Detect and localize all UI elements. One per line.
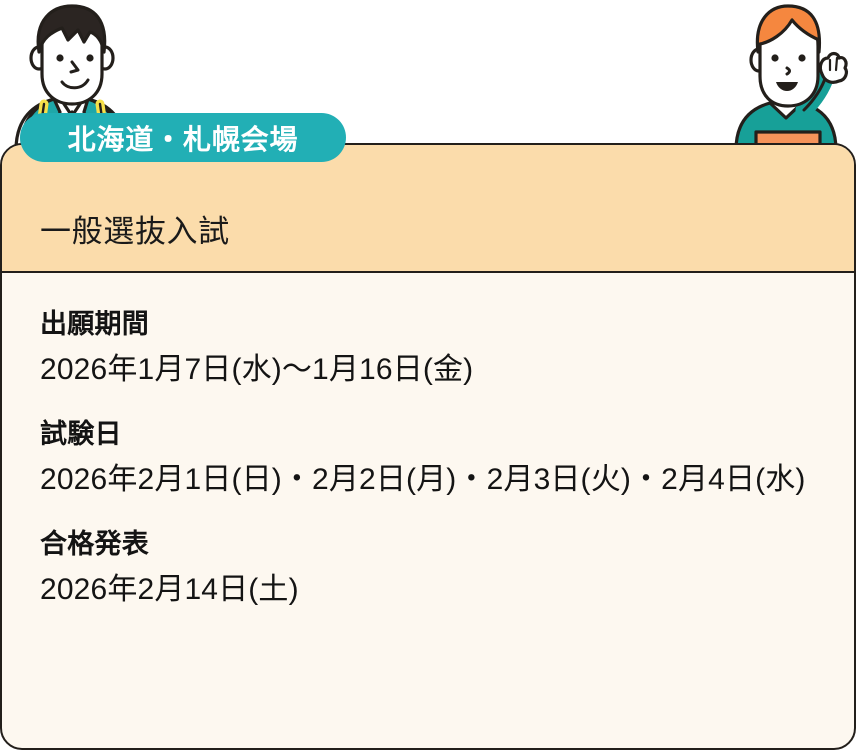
field-result-announcement: 合格発表 2026年2月14日(土) <box>40 527 816 611</box>
card-body: 出願期間 2026年1月7日(水)〜1月16日(金) 試験日 2026年2月1日… <box>2 273 854 611</box>
right-character-illustration <box>726 0 852 160</box>
field-value: 2026年2月1日(日)・2月2日(月)・2月3日(火)・2月4日(水) <box>40 460 816 501</box>
venue-badge: 北海道・札幌会場 <box>20 113 346 162</box>
card-header-title: 一般選抜入試 <box>40 216 230 247</box>
field-exam-date: 試験日 2026年2月1日(日)・2月2日(月)・2月3日(火)・2月4日(水) <box>40 417 816 501</box>
field-value: 2026年1月7日(水)〜1月16日(金) <box>40 350 816 391</box>
field-label: 合格発表 <box>40 527 816 562</box>
field-application-period: 出願期間 2026年1月7日(水)〜1月16日(金) <box>40 307 816 391</box>
field-label: 出願期間 <box>40 307 816 342</box>
field-label: 試験日 <box>40 417 816 452</box>
field-value: 2026年2月14日(土) <box>40 570 816 611</box>
card-header: 一般選抜入試 <box>2 145 854 273</box>
exam-info-card: 一般選抜入試 出願期間 2026年1月7日(水)〜1月16日(金) 試験日 20… <box>0 143 856 750</box>
